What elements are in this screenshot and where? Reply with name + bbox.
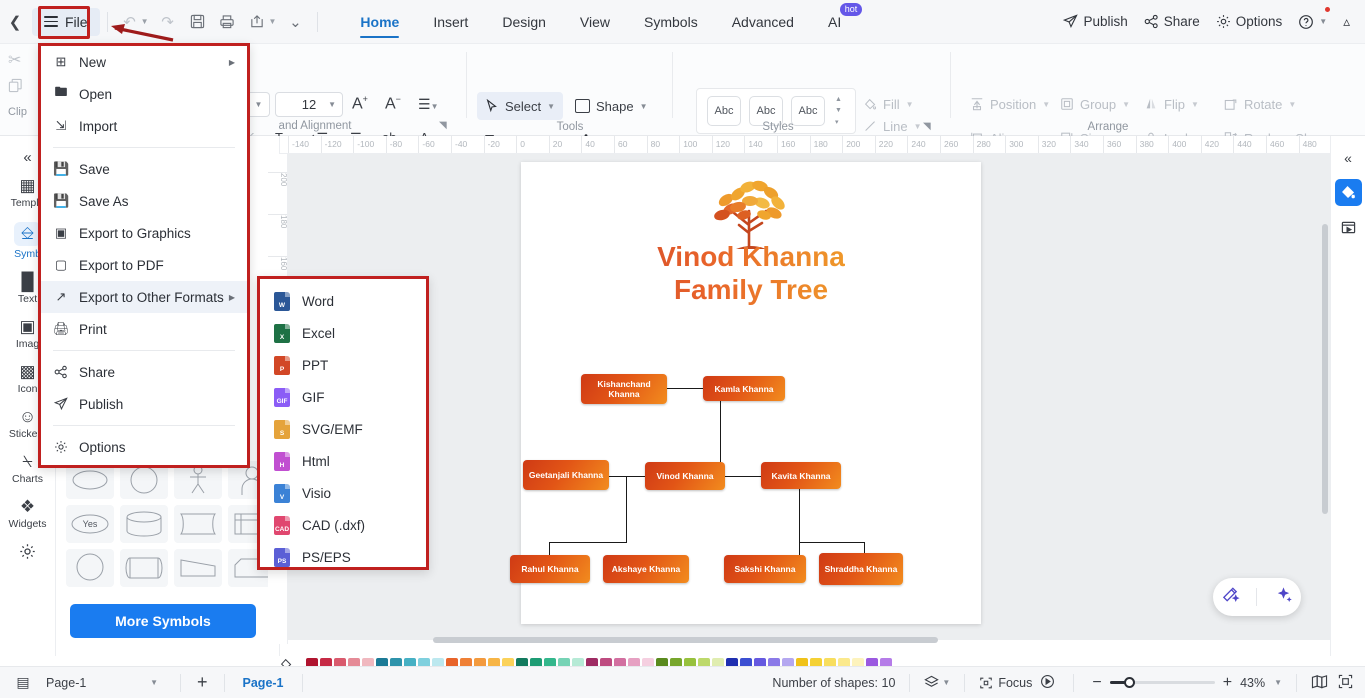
menu-item-label: Export to Other Formats <box>79 290 224 305</box>
ruler-tick: 480 <box>1299 136 1317 154</box>
symbol-grid: Yes <box>66 461 270 587</box>
file-menu: ⊞ New ▶ 🖿 Open ⇲ Import 💾 Save 💾 Save As… <box>38 43 250 468</box>
page-title-line1: Vinod Khanna <box>521 240 981 273</box>
export-graphics-icon: ▣ <box>53 225 69 241</box>
ruler-tick: 140 <box>744 136 762 154</box>
svg-file-icon: S <box>274 420 290 439</box>
flip-label: Flip <box>1164 97 1185 112</box>
page-title: Vinod Khanna Family Tree <box>521 240 981 306</box>
export-caret-icon[interactable]: ▼ <box>268 17 280 26</box>
collapse-right-panel-icon[interactable]: « <box>1335 144 1362 171</box>
font-family-caret-icon[interactable]: ▼ <box>248 92 270 117</box>
menu-divider <box>53 350 235 351</box>
ruler-tick: 20 <box>549 136 562 154</box>
divider <box>317 12 318 32</box>
hot-badge: hot <box>840 3 863 16</box>
tab-insert[interactable]: Insert <box>416 0 485 44</box>
more-options-icon[interactable]: ⌄ <box>280 8 310 36</box>
menu-item-label: Print <box>79 322 107 337</box>
format-item-label: PS/EPS <box>302 550 351 565</box>
status-bar: ▤ Page-1 ▼ + Page-1 Number of shapes: 10… <box>0 666 1365 698</box>
format-item-word[interactable]: WWord <box>260 285 426 317</box>
tab-label: Symbols <box>644 14 698 30</box>
flip-button[interactable]: Flip▼ <box>1136 90 1207 118</box>
ruler-tick: 220 <box>875 136 893 154</box>
settings-gear-icon <box>19 543 36 564</box>
font-size-value: 12 <box>302 97 316 112</box>
menu-item-label: Options <box>79 440 126 455</box>
menu-item-label: Save As <box>79 194 129 209</box>
format-item-cad-dxf[interactable]: CADCAD (.dxf) <box>260 509 426 541</box>
ruler-tick: 100 <box>679 136 697 154</box>
rotate-label: Rotate <box>1244 97 1282 112</box>
more-symbols-button[interactable]: More Symbols <box>70 604 256 638</box>
right-dock: « <box>1330 136 1365 656</box>
layers-icon[interactable]: ▼ <box>924 675 950 690</box>
ruler-tick: 160 <box>777 136 795 154</box>
divider <box>1256 588 1257 606</box>
tab-symbols[interactable]: Symbols <box>627 0 715 44</box>
chevron-down-icon[interactable]: ▼ <box>328 100 336 109</box>
tree-node[interactable]: Kavita Khanna <box>761 462 841 489</box>
format-item-ps-eps[interactable]: PSPS/EPS <box>260 541 426 573</box>
tree-node[interactable]: Shraddha Khanna <box>819 553 903 585</box>
zoom-in-button[interactable]: + <box>1219 674 1236 692</box>
paragraph-align-icon[interactable]: ☰▼ <box>418 96 438 113</box>
gear-icon <box>53 440 69 455</box>
horizontal-scrollbar[interactable] <box>288 636 1330 644</box>
format-item-label: Word <box>302 294 334 309</box>
ruler-tick: 180 <box>810 136 828 154</box>
menu-item-share[interactable]: Share <box>41 356 247 388</box>
excel-file-icon: X <box>274 324 290 343</box>
format-item-gif[interactable]: GIFGIF <box>260 381 426 413</box>
connector-line <box>626 476 627 542</box>
zoom-out-button[interactable]: − <box>1088 674 1105 692</box>
tools-group: Select▼ Shape▼ T Text▼ Connector▼ Tools <box>472 44 668 136</box>
ruler-tick: -60 <box>418 136 434 154</box>
menu-item-label: Save <box>79 162 110 177</box>
menu-item-label: Share <box>79 365 115 380</box>
arrange-group-label: Arrange <box>958 121 1258 133</box>
connector-line <box>864 542 865 553</box>
tab-label: View <box>580 14 610 30</box>
document-page[interactable]: Vinod Khanna Family Tree Kishanchand Kha… <box>521 162 981 624</box>
styles-group-label: Styles <box>678 121 878 133</box>
top-bar: ❮ File ↶ ▼ ↷ ▼ ⌄ Home Inse <box>0 0 1365 44</box>
share-button[interactable]: Share <box>1137 8 1207 36</box>
html-file-icon: H <box>274 452 290 471</box>
tab-advanced[interactable]: Advanced <box>715 0 811 44</box>
save-as-icon: 💾 <box>53 193 69 209</box>
sidebar-item-widgets[interactable]: ❖ Widgets <box>0 491 56 536</box>
sparkle-icon[interactable] <box>1274 585 1293 609</box>
focus-button[interactable]: Focus <box>979 676 1032 690</box>
magic-wand-icon[interactable] <box>1221 585 1240 609</box>
ruler-tick: 400 <box>1168 136 1186 154</box>
options-button[interactable]: Options <box>1209 8 1290 36</box>
sidebar-item-settings[interactable] <box>0 536 56 570</box>
position-button[interactable]: Position▼ <box>962 90 1058 118</box>
menu-item-export-pdf[interactable]: ▢ Export to PDF <box>41 249 247 281</box>
ruler-tick: -140 <box>288 136 309 154</box>
ai-floating-toolbar <box>1213 578 1301 616</box>
connector-line <box>549 542 550 555</box>
format-item-label: PPT <box>302 358 328 373</box>
arrange-group: Position▼ Group▼ Flip▼ Rotate▼ Align▼ Si… <box>958 44 1358 136</box>
horizontal-ruler: -140-120-100-80-60-40-200204060801001201… <box>280 136 1330 154</box>
annotation-arrow <box>95 20 175 44</box>
ps-file-icon: PS <box>274 548 290 567</box>
collapse-left-panel-icon[interactable]: « <box>23 144 31 170</box>
paragraph-dialog-launcher[interactable]: ◥ <box>439 120 447 131</box>
format-item-visio[interactable]: VVisio <box>260 477 426 509</box>
fill-label: Fill <box>883 97 900 112</box>
ruler-tick: 420 <box>1201 136 1219 154</box>
shapes-count-label: Number of shapes: 10 <box>772 676 895 690</box>
tools-group-label: Tools <box>472 121 668 133</box>
menu-divider <box>53 425 235 426</box>
add-page-icon[interactable]: + <box>191 672 214 693</box>
ribbon-tabs: Home Insert Design View Symbols Advanced… <box>343 0 858 44</box>
tab-label: Design <box>502 14 546 30</box>
publish-button[interactable]: Publish <box>1056 8 1134 36</box>
sidebar-item-label: Widgets <box>9 518 47 530</box>
symbol-circle-2[interactable] <box>66 549 114 587</box>
ruler-tick: 80 <box>647 136 660 154</box>
menu-divider <box>53 147 235 148</box>
styles-scroll-down-icon[interactable]: ▼ <box>835 107 842 114</box>
menu-item-import[interactable]: ⇲ Import <box>41 110 247 142</box>
save-icon: 💾 <box>53 161 69 177</box>
format-item-excel[interactable]: XExcel <box>260 317 426 349</box>
ruler-tick: 60 <box>614 136 627 154</box>
ruler-tick: -120 <box>321 136 342 154</box>
shape-tool-label: Shape <box>596 99 634 114</box>
options-label: Options <box>1236 14 1283 29</box>
tree-node[interactable]: Kamla Khanna <box>703 376 785 401</box>
vertical-scrollbar[interactable] <box>1321 154 1329 640</box>
tree-node[interactable]: Sakshi Khanna <box>724 555 806 583</box>
ruler-tick: -40 <box>451 136 467 154</box>
ruler-tick: -100 <box>353 136 374 154</box>
templates-icon: ▦ <box>19 177 35 195</box>
menu-item-label: Export to Graphics <box>79 226 191 241</box>
line-label: Line <box>883 119 908 134</box>
menu-item-publish[interactable]: Publish <box>41 388 247 420</box>
symbol-curved-doc[interactable] <box>174 505 222 543</box>
ruler-tick: 0 <box>516 136 525 154</box>
tree-node[interactable]: Kishanchand Khanna <box>581 374 667 404</box>
font-size-input[interactable]: 12 ▼ <box>275 92 343 117</box>
ruler-tick: -20 <box>484 136 500 154</box>
zoom-slider[interactable] <box>1110 676 1215 690</box>
format-item-label: GIF <box>302 390 325 405</box>
tab-design[interactable]: Design <box>485 0 563 44</box>
share-label: Share <box>1164 14 1200 29</box>
ruler-tick: 160 <box>268 256 288 270</box>
ruler-tick: 300 <box>1005 136 1023 154</box>
ruler-tick: 180 <box>268 214 288 228</box>
format-item-svg-emf[interactable]: SSVG/EMF <box>260 413 426 445</box>
ruler-tick: 340 <box>1070 136 1088 154</box>
menu-item-label: New <box>79 55 106 70</box>
clipboard-group: ✂ Clip <box>8 50 27 118</box>
square-icon <box>575 99 590 113</box>
menu-item-open[interactable]: 🖿 Open <box>41 78 247 110</box>
widgets-icon: ❖ <box>20 498 35 516</box>
symbol-cylinder[interactable] <box>120 505 168 543</box>
select-tool-label: Select <box>505 99 541 114</box>
tab-label: AI <box>828 14 841 30</box>
connector-line <box>799 542 865 543</box>
help-caret-icon[interactable]: ▼ <box>1319 17 1327 26</box>
symbol-trapezoid[interactable] <box>174 549 222 587</box>
printer-icon: 🖨 <box>53 321 69 337</box>
folder-icon: 🖿 <box>53 83 69 105</box>
symbol-yes-label: Yes <box>66 505 114 543</box>
collapse-ribbon-icon[interactable]: ▵ <box>1336 8 1357 36</box>
menu-item-label: Import <box>79 119 117 134</box>
chevron-right-icon: ▶ <box>229 58 235 67</box>
ruler-tick: 440 <box>1233 136 1251 154</box>
menu-item-export-graphics[interactable]: ▣ Export to Graphics <box>41 217 247 249</box>
tab-view[interactable]: View <box>563 0 627 44</box>
ruler-tick: 200 <box>842 136 860 154</box>
icon-camera-icon: ▩ <box>19 363 35 381</box>
play-icon[interactable] <box>1036 674 1059 692</box>
page-tab-page1[interactable]: Page-1 <box>235 676 292 690</box>
sidebar-item-label: Charts <box>12 473 43 485</box>
print-icon[interactable] <box>212 8 242 36</box>
copy-icon[interactable] <box>8 78 27 98</box>
clipboard-group-label: Clip <box>8 106 27 118</box>
chevron-right-icon: ▶ <box>229 293 235 302</box>
ruler-tick: 240 <box>907 136 925 154</box>
format-item-ppt[interactable]: PPPT <box>260 349 426 381</box>
ruler-tick: 360 <box>1103 136 1121 154</box>
canvas[interactable]: Vinod Khanna Family Tree Kishanchand Kha… <box>288 154 1330 640</box>
connector-line <box>549 542 627 543</box>
format-group: Fill▼ Line▼ Shadow▼ <box>852 44 960 136</box>
tab-ai[interactable]: AI hot <box>811 0 858 44</box>
menu-item-label: Export to PDF <box>79 258 164 273</box>
ppt-file-icon: P <box>274 356 290 375</box>
back-icon[interactable]: ❮ <box>0 13 30 31</box>
zoom-value: 43% <box>1240 676 1270 690</box>
ruler-tick: 380 <box>1136 136 1154 154</box>
connector-line <box>725 476 761 477</box>
ruler-tick: 40 <box>581 136 594 154</box>
focus-label: Focus <box>998 676 1032 690</box>
top-right-actions: Publish Share Options ▼ ▵ <box>1056 8 1365 36</box>
sidebar-item-label: Icon <box>18 383 38 395</box>
tree-node[interactable]: Rahul Khanna <box>510 555 590 583</box>
tree-node[interactable]: Vinod Khanna <box>645 462 725 490</box>
help-icon[interactable]: ▼ <box>1291 8 1334 36</box>
presentation-icon[interactable] <box>1335 214 1362 241</box>
share-icon <box>53 365 69 380</box>
page-dropdown-label: Page-1 <box>46 676 86 690</box>
cad-file-icon: CAD <box>274 516 290 535</box>
gif-file-icon: GIF <box>274 388 290 407</box>
tab-home[interactable]: Home <box>343 0 416 44</box>
tab-label: Home <box>360 14 399 30</box>
zoom-caret-icon[interactable]: ▼ <box>1274 678 1282 687</box>
full-screen-icon[interactable] <box>1332 674 1353 692</box>
ruler-tick: -80 <box>386 136 402 154</box>
ruler-tick: 200 <box>268 172 288 186</box>
styles-scroll-up-icon[interactable]: ▲ <box>835 96 842 103</box>
import-icon: ⇲ <box>53 118 69 134</box>
ruler-tick: 260 <box>940 136 958 154</box>
save-icon[interactable] <box>182 8 212 36</box>
more-symbols-label: More Symbols <box>115 613 211 629</box>
sidebar-item-label: Text <box>18 293 37 305</box>
symbol-yes-oval[interactable]: Yes <box>66 505 114 543</box>
visio-file-icon: V <box>274 484 290 503</box>
ruler-tick: 320 <box>1038 136 1056 154</box>
ruler-tick: 120 <box>712 136 730 154</box>
publish-label: Publish <box>1083 14 1127 29</box>
app-window: ❮ File ↶ ▼ ↷ ▼ ⌄ Home Inse <box>0 0 1365 698</box>
format-item-html[interactable]: HHtml <box>260 445 426 477</box>
format-item-label: Visio <box>302 486 331 501</box>
tree-node[interactable]: Geetanjali Khanna <box>523 460 609 490</box>
sidebar-item-label: Imag <box>16 338 39 350</box>
format-item-label: Html <box>302 454 330 469</box>
decrease-font-icon[interactable]: A− <box>385 94 401 113</box>
ruler-tick: 460 <box>1266 136 1284 154</box>
format-item-label: SVG/EMF <box>302 422 363 437</box>
group-label: Group <box>1080 97 1116 112</box>
format-item-label: CAD (.dxf) <box>302 518 365 533</box>
symbol-cylinder-h[interactable] <box>120 549 168 587</box>
tree-node[interactable]: Akshaye Khanna <box>603 555 689 583</box>
page-dropdown[interactable]: Page-1 ▼ <box>46 676 170 690</box>
menu-item-save[interactable]: 💾 Save <box>41 153 247 185</box>
sidebar-item-label: Symb <box>14 248 41 260</box>
menu-item-new[interactable]: ⊞ New ▶ <box>41 46 247 78</box>
chart-line-icon: ⍀ <box>22 453 32 471</box>
shape-tool-button[interactable]: Shape▼ <box>567 92 656 120</box>
position-label: Position <box>990 97 1036 112</box>
increase-font-icon[interactable]: A+ <box>352 94 368 113</box>
plus-box-icon: ⊞ <box>53 54 69 70</box>
menu-item-options[interactable]: Options <box>41 431 247 463</box>
export-formats-submenu: WWordXExcelPPPTGIFGIFSSVG/EMFHHtmlVVisio… <box>257 276 429 570</box>
annotation-highlight-file <box>38 6 90 39</box>
rotate-button[interactable]: Rotate▼ <box>1216 90 1304 118</box>
scissors-icon[interactable]: ✂ <box>8 50 27 70</box>
text-box-icon: █ <box>21 273 33 291</box>
sticker-icon: ☺ <box>19 408 36 426</box>
word-file-icon: W <box>274 292 290 311</box>
format-item-label: Excel <box>302 326 335 341</box>
export-pdf-icon: ▢ <box>53 257 69 273</box>
page-tab-label: Page-1 <box>243 676 284 690</box>
group-button[interactable]: Group▼ <box>1052 90 1138 118</box>
tab-label: Advanced <box>732 14 794 30</box>
publish-icon <box>53 397 69 412</box>
menu-item-print[interactable]: 🖨 Print <box>41 313 247 345</box>
menu-item-label: Open <box>79 87 112 102</box>
fill-bucket-icon[interactable] <box>1335 179 1362 206</box>
export-other-icon: ↗ <box>53 289 69 305</box>
menu-item-label: Publish <box>79 397 123 412</box>
page-title-line2: Family Tree <box>521 273 981 306</box>
menu-item-export-other-formats[interactable]: ↗ Export to Other Formats ▶ <box>41 281 247 313</box>
select-tool-button[interactable]: Select▼ <box>477 92 563 120</box>
fit-page-icon[interactable] <box>1311 674 1328 692</box>
menu-item-save-as[interactable]: 💾 Save As <box>41 185 247 217</box>
tab-label: Insert <box>433 14 468 30</box>
page-layout-icon[interactable]: ▤ <box>0 674 46 691</box>
image-icon: ▣ <box>19 318 35 336</box>
ruler-tick: 280 <box>973 136 991 154</box>
